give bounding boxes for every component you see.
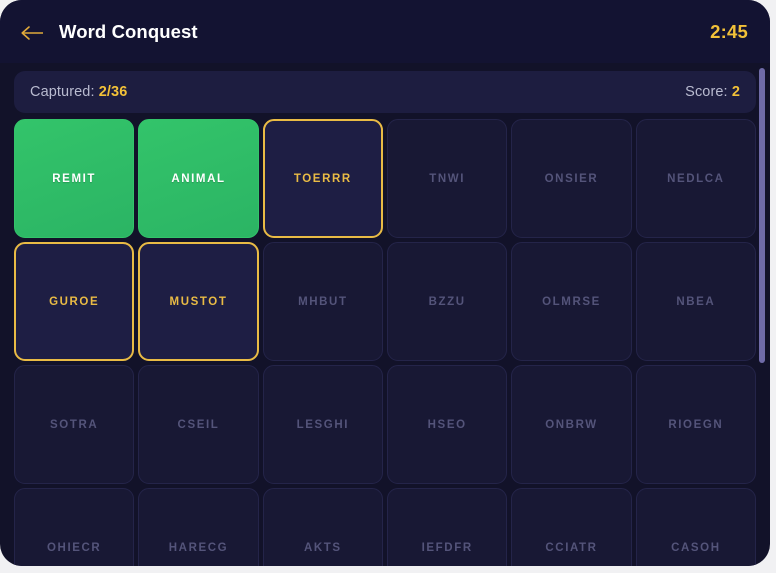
- word-tile[interactable]: IEFDFR: [387, 488, 507, 566]
- word-grid: REMITANIMALTOERRRTNWIONSIERNEDLCAGUROEMU…: [14, 119, 756, 566]
- word-tile[interactable]: MHBUT: [263, 242, 383, 361]
- word-tile[interactable]: ONSIER: [511, 119, 631, 238]
- word-tile[interactable]: BZZU: [387, 242, 507, 361]
- word-tile[interactable]: OLMRSE: [511, 242, 631, 361]
- word-tile[interactable]: HSEO: [387, 365, 507, 484]
- word-tile[interactable]: CCIATR: [511, 488, 631, 566]
- status-bar-wrapper: Captured: 2/36 Score: 2: [0, 63, 770, 119]
- word-tile[interactable]: GUROE: [14, 242, 134, 361]
- timer-display: 2:45: [710, 21, 748, 43]
- word-tile[interactable]: LESGHI: [263, 365, 383, 484]
- status-bar: Captured: 2/36 Score: 2: [14, 71, 756, 113]
- word-tile[interactable]: NEDLCA: [636, 119, 756, 238]
- word-tile[interactable]: REMIT: [14, 119, 134, 238]
- word-tile[interactable]: MUSTOT: [138, 242, 258, 361]
- word-tile[interactable]: HARECG: [138, 488, 258, 566]
- score-value: 2: [732, 84, 740, 100]
- page-title: Word Conquest: [59, 21, 198, 43]
- word-tile[interactable]: TOERRR: [263, 119, 383, 238]
- app-window: Word Conquest 2:45 Captured: 2/36 Score:…: [0, 0, 770, 566]
- word-tile[interactable]: ANIMAL: [138, 119, 258, 238]
- word-tile[interactable]: OHIECR: [14, 488, 134, 566]
- score-display: Score: 2: [685, 84, 740, 100]
- captured-label: Captured:: [30, 84, 95, 100]
- captured-value: 2/36: [99, 84, 128, 100]
- word-tile[interactable]: SOTRA: [14, 365, 134, 484]
- captured-counter: Captured: 2/36: [30, 84, 127, 100]
- word-tile[interactable]: ONBRW: [511, 365, 631, 484]
- word-tile[interactable]: CASOH: [636, 488, 756, 566]
- scrollbar-thumb[interactable]: [759, 68, 765, 363]
- app-header: Word Conquest 2:45: [0, 0, 770, 63]
- word-tile[interactable]: TNWI: [387, 119, 507, 238]
- word-tile[interactable]: CSEIL: [138, 365, 258, 484]
- word-tile[interactable]: RIOEGN: [636, 365, 756, 484]
- score-label: Score:: [685, 84, 728, 100]
- word-grid-scroll-area: REMITANIMALTOERRRTNWIONSIERNEDLCAGUROEMU…: [0, 119, 770, 566]
- word-tile[interactable]: AKTS: [263, 488, 383, 566]
- word-tile[interactable]: NBEA: [636, 242, 756, 361]
- arrow-left-icon[interactable]: [20, 0, 44, 63]
- vertical-scrollbar[interactable]: [757, 63, 767, 566]
